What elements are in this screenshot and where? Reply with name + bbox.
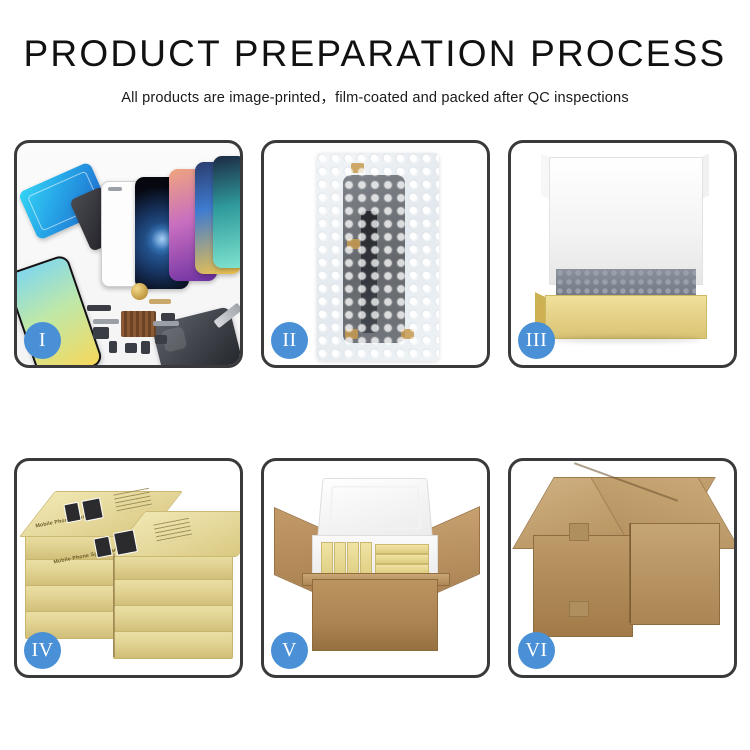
box-right-4: [113, 631, 233, 659]
box-right-3: [113, 605, 233, 633]
step-panel-4[interactable]: Mobile Phone Spare Parts Mobile Phone Sp…: [14, 458, 243, 678]
box-chip-right-b: [113, 529, 138, 556]
process-steps-grid: I II: [14, 140, 736, 678]
step-badge-6: VI: [518, 632, 555, 669]
camera-module-icon: [93, 327, 109, 339]
logic-board-icon: [121, 311, 156, 337]
page-title: PRODUCT PREPARATION PROCESS: [0, 34, 750, 75]
taptic-engine-icon: [125, 343, 137, 353]
step-badge-4: IV: [24, 632, 61, 669]
carton-corner-seam: [629, 523, 631, 623]
screw-bracket-icon: [155, 335, 167, 344]
carton-left-face: [533, 535, 633, 637]
box-shadow: [551, 336, 701, 343]
vibration-motor-icon: [131, 283, 148, 300]
step-badge-2: II: [271, 322, 308, 359]
antenna-clip-icon: [161, 313, 175, 321]
carton-right-face: [630, 523, 720, 625]
white-foam-lid: [549, 157, 703, 285]
step-panel-5[interactable]: V: [261, 458, 490, 678]
step-panel-1[interactable]: I: [14, 140, 243, 368]
box-chip-left-b: [81, 497, 104, 521]
box-right-1: [113, 553, 233, 581]
tape-piece-middle: [347, 239, 360, 249]
flex-cable-left: [93, 319, 119, 324]
carton-tape-lower: [569, 601, 589, 617]
tape-piece-top: [351, 163, 364, 173]
box-left-3: [25, 585, 123, 613]
flex-cable-top: [149, 299, 171, 304]
step-panel-2[interactable]: II: [261, 140, 490, 368]
step-panel-6[interactable]: VI: [508, 458, 737, 678]
stack-seam: [113, 553, 115, 657]
product-preparation-infographic: PRODUCT PREPARATION PROCESS All products…: [0, 0, 750, 750]
spare-components-group: [87, 283, 207, 365]
carton-tape-upper: [569, 523, 589, 541]
speaker-mesh-icon: [87, 305, 111, 311]
flex-cable-right: [153, 321, 179, 326]
page-subtitle: All products are image-printed，film-coat…: [0, 86, 750, 107]
tape-piece-bottom-left: [345, 329, 358, 339]
carton-front-panel: [312, 579, 438, 651]
phone-display-teal: [213, 156, 240, 268]
bubble-wrap-bag: [317, 153, 439, 361]
sim-tray-icon: [109, 341, 117, 353]
box-left-2: [25, 559, 123, 587]
tape-piece-bottom-right: [401, 329, 414, 339]
battery-connector-icon: [141, 341, 150, 354]
step-badge-1: I: [24, 322, 61, 359]
inner-box-6: [375, 554, 429, 564]
wrapped-flex-strip: [361, 211, 377, 333]
step-badge-3: III: [518, 322, 555, 359]
step-badge-5: V: [271, 632, 308, 669]
box-right-2: [113, 579, 233, 607]
step-panel-3[interactable]: III: [508, 140, 737, 368]
inner-box-front: [545, 295, 707, 339]
foam-box-lid: [317, 478, 433, 539]
header: PRODUCT PREPARATION PROCESS All products…: [0, 0, 750, 107]
inner-box-5: [375, 544, 429, 554]
